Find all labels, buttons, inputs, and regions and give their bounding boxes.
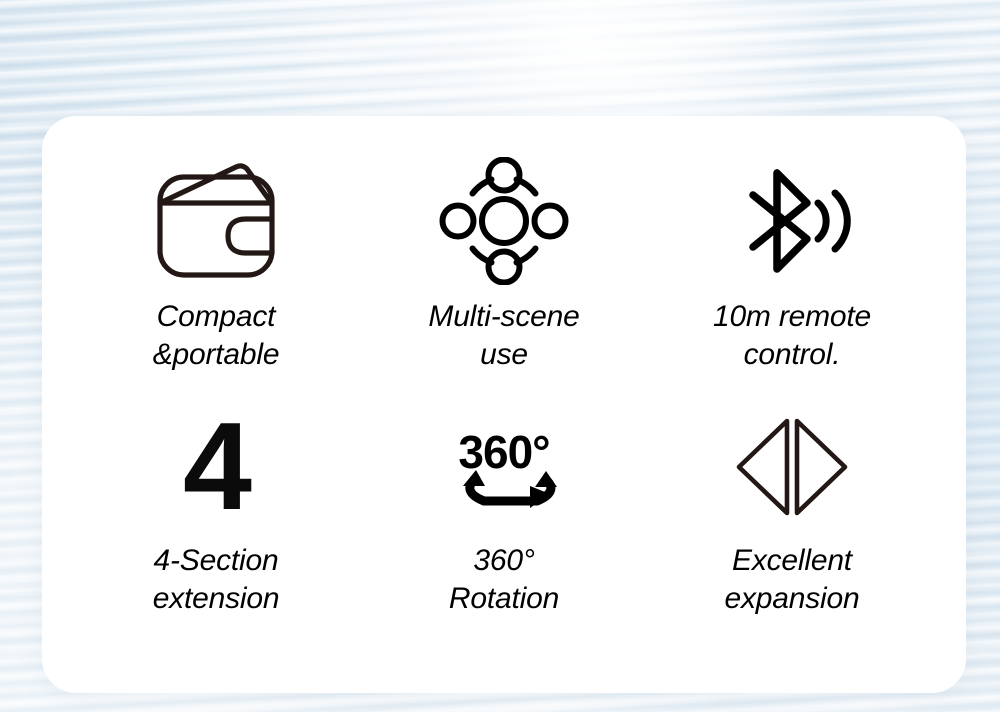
bluetooth-signal-icon	[733, 165, 851, 277]
feature-item-excellent-expansion: Excellent expansion	[648, 408, 936, 666]
svg-text:360°: 360°	[458, 426, 549, 478]
feature-label: 360° Rotation	[449, 542, 559, 619]
feature-item-360-rotation: 360° 360° Rotation	[360, 408, 648, 666]
feature-grid: Compact &portable	[42, 116, 966, 693]
rotation-360-arrows-icon: 360°	[429, 424, 579, 510]
multi-scene-network-icon	[438, 157, 570, 285]
expand-icon-container	[733, 408, 851, 526]
feature-item-four-section-extension: 4 4-Section extension	[72, 408, 360, 666]
wallet-icon	[152, 161, 280, 281]
numeral-four-container: 4	[183, 408, 249, 526]
feature-card: Compact &portable	[42, 116, 966, 693]
feature-label: Excellent expansion	[725, 542, 860, 619]
expand-arrows-diamond-icon	[733, 415, 851, 519]
feature-highlight-page: Compact &portable	[0, 0, 1000, 712]
feature-label: Compact &portable	[153, 298, 280, 375]
numeral-four-icon: 4	[183, 405, 249, 529]
feature-label: 10m remote control.	[713, 298, 871, 375]
wallet-icon-container	[152, 150, 280, 292]
feature-item-multi-scene-use: Multi-scene use	[360, 150, 648, 408]
feature-item-remote-control: 10m remote control.	[648, 150, 936, 408]
multi-scene-icon-container	[438, 150, 570, 292]
bluetooth-icon-container	[733, 150, 851, 292]
feature-label: Multi-scene use	[428, 298, 579, 375]
rotation-360-icon-container: 360°	[429, 408, 579, 526]
feature-label: 4-Section extension	[153, 542, 280, 619]
feature-item-compact-portable: Compact &portable	[72, 150, 360, 408]
